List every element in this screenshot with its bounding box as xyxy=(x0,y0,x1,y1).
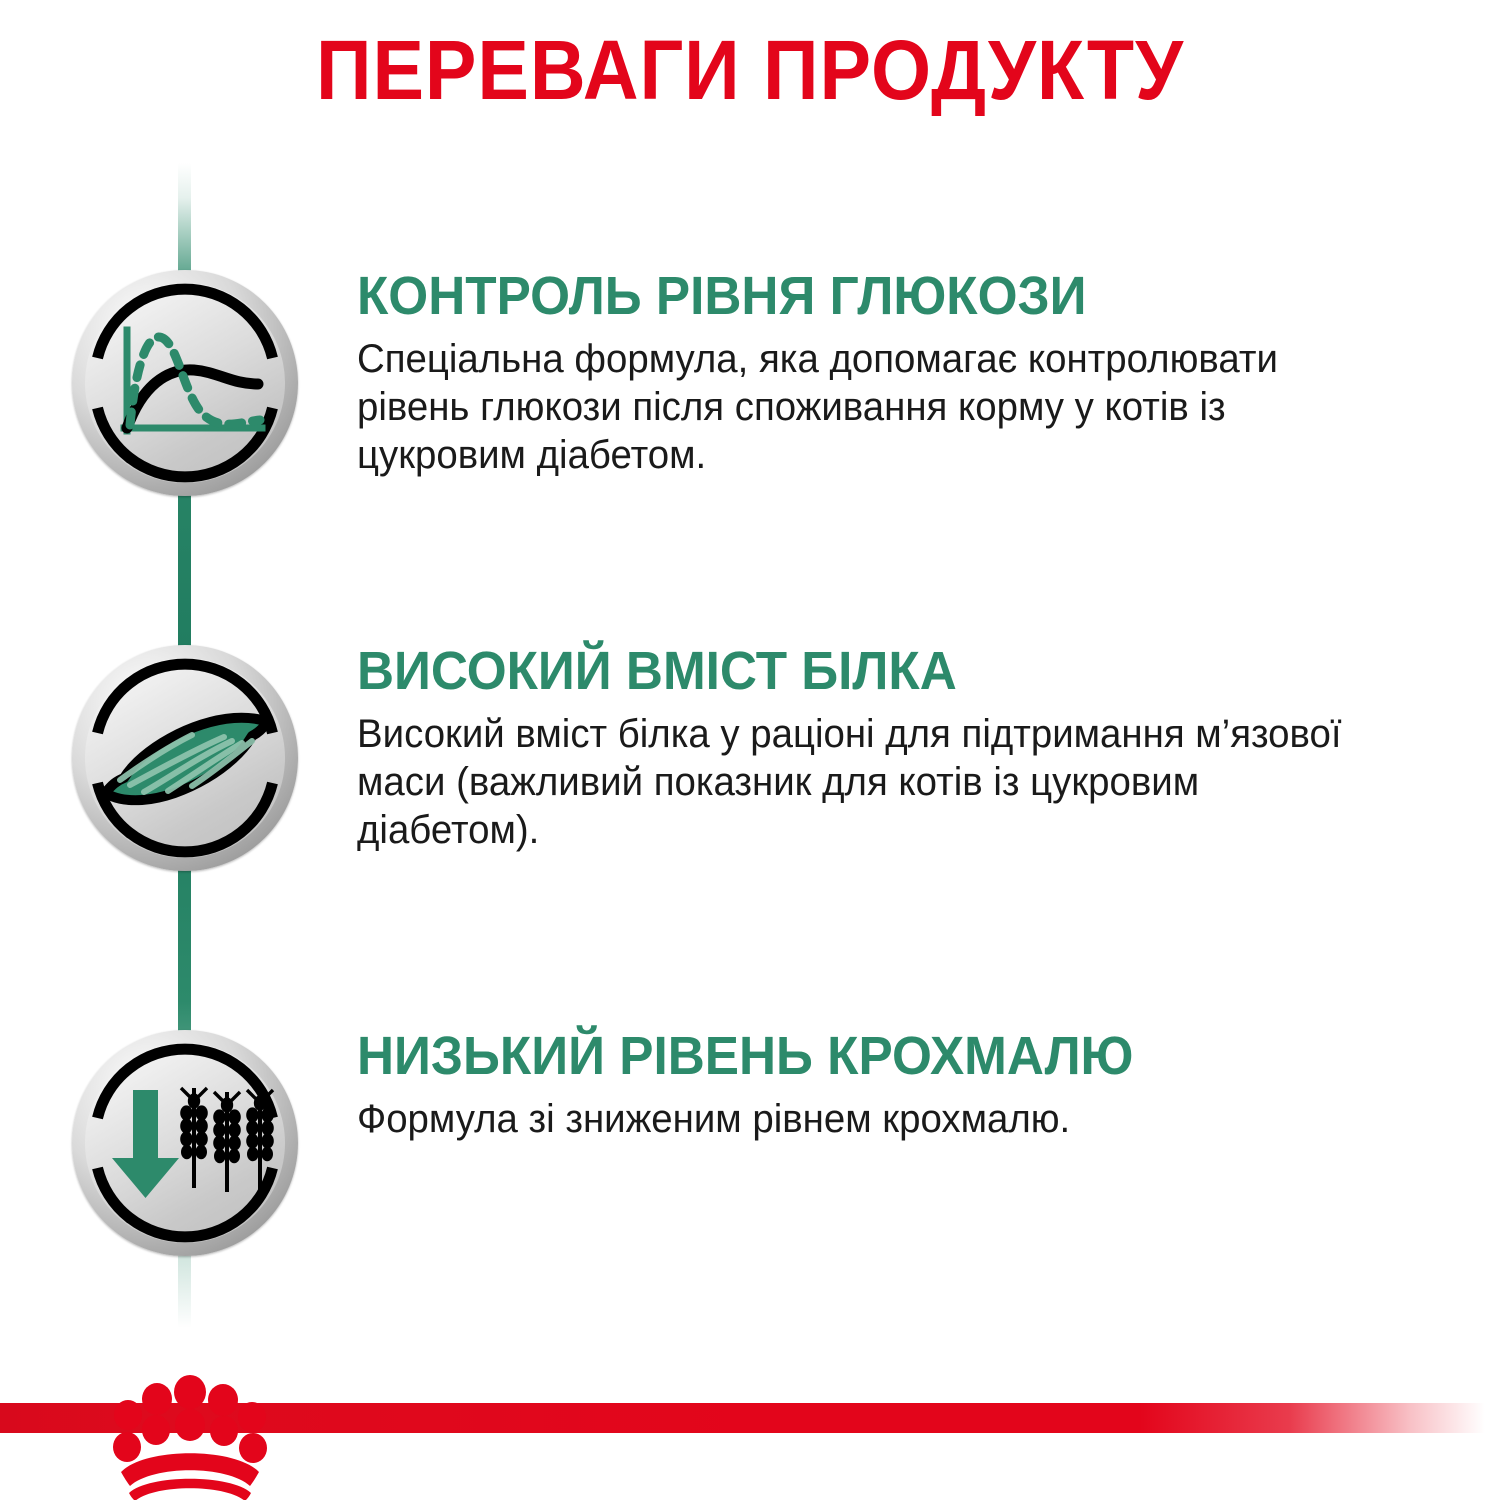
benefit-text-block: ВИСОКИЙ ВМІСТ БІЛКА Високий вміст білка … xyxy=(357,641,1427,854)
benefit-heading: ВИСОКИЙ ВМІСТ БІЛКА xyxy=(357,641,1374,701)
muscle-fiber-icon-art xyxy=(72,645,298,871)
glucose-curve-icon xyxy=(72,270,298,496)
low-starch-wheat-arrow-icon-art xyxy=(72,1030,298,1256)
page-title: ПЕРЕВАГИ ПРОДУКТУ xyxy=(60,26,1440,114)
benefit-body: Високий вміст білка у раціоні для підтри… xyxy=(357,710,1384,854)
wheat-stalks xyxy=(180,1088,274,1192)
benefit-text-block: НИЗЬКИЙ РІВЕНЬ КРОХМАЛЮ Формула зі зниже… xyxy=(357,1026,1427,1143)
benefit-heading: НИЗЬКИЙ РІВЕНЬ КРОХМАЛЮ xyxy=(357,1026,1374,1086)
benefit-body: Формула зі зниженим рівнем крохмалю. xyxy=(357,1095,1384,1143)
muscle-fiber-icon xyxy=(72,645,298,871)
low-starch-wheat-arrow-icon xyxy=(72,1030,298,1256)
benefit-body: Спеціальна формула, яка допомагає контро… xyxy=(357,335,1384,479)
benefit-heading: КОНТРОЛЬ РІВНЯ ГЛЮКОЗИ xyxy=(357,266,1374,326)
glucose-curve-icon-art xyxy=(72,270,298,496)
royal-canin-crown-logo xyxy=(105,1375,275,1500)
benefit-text-block: КОНТРОЛЬ РІВНЯ ГЛЮКОЗИ Спеціальна формул… xyxy=(357,266,1427,479)
